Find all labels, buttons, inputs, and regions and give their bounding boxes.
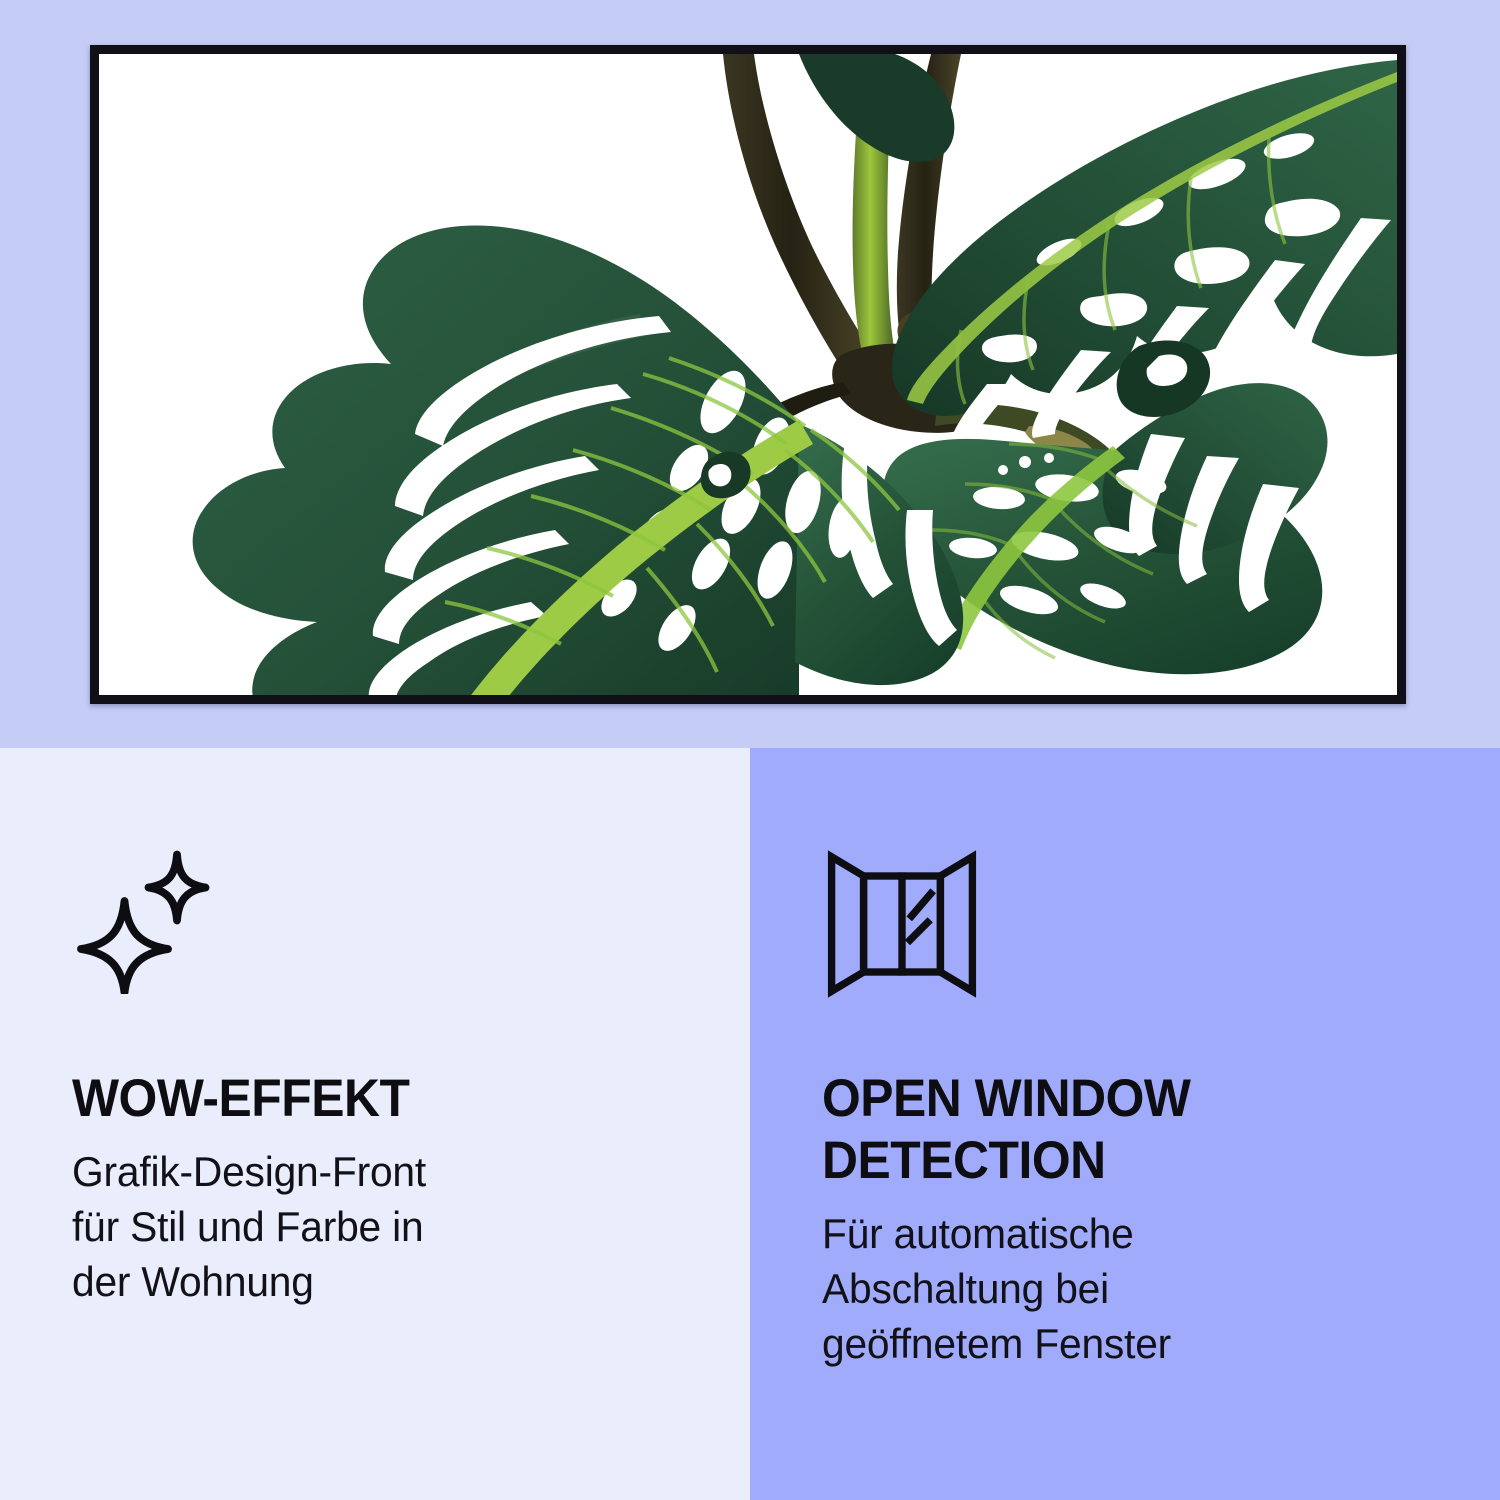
feature-card-open-window-detection: OPEN WINDOW DETECTION Für automatische A… [750,748,1500,1500]
feature-description: Grafik-Design-Front für Stil und Farbe i… [72,1144,660,1309]
artwork-surface [99,54,1397,695]
product-feature-graphic: WOW-EFFEKT Grafik-Design-Front für Stil … [0,0,1500,1500]
framed-panel [90,45,1406,704]
feature-description: Für automatische Abschaltung bei geöffne… [822,1206,1410,1371]
feature-title: WOW-EFFEKT [72,1068,642,1130]
open-window-icon [822,844,982,1004]
hero-band [0,0,1500,748]
feature-title: OPEN WINDOW DETECTION [822,1068,1392,1192]
feature-row: WOW-EFFEKT Grafik-Design-Front für Stil … [0,748,1500,1500]
sparkle-icon [72,844,222,994]
monstera-illustration [99,54,1397,695]
feature-card-wow-effekt: WOW-EFFEKT Grafik-Design-Front für Stil … [0,748,750,1500]
